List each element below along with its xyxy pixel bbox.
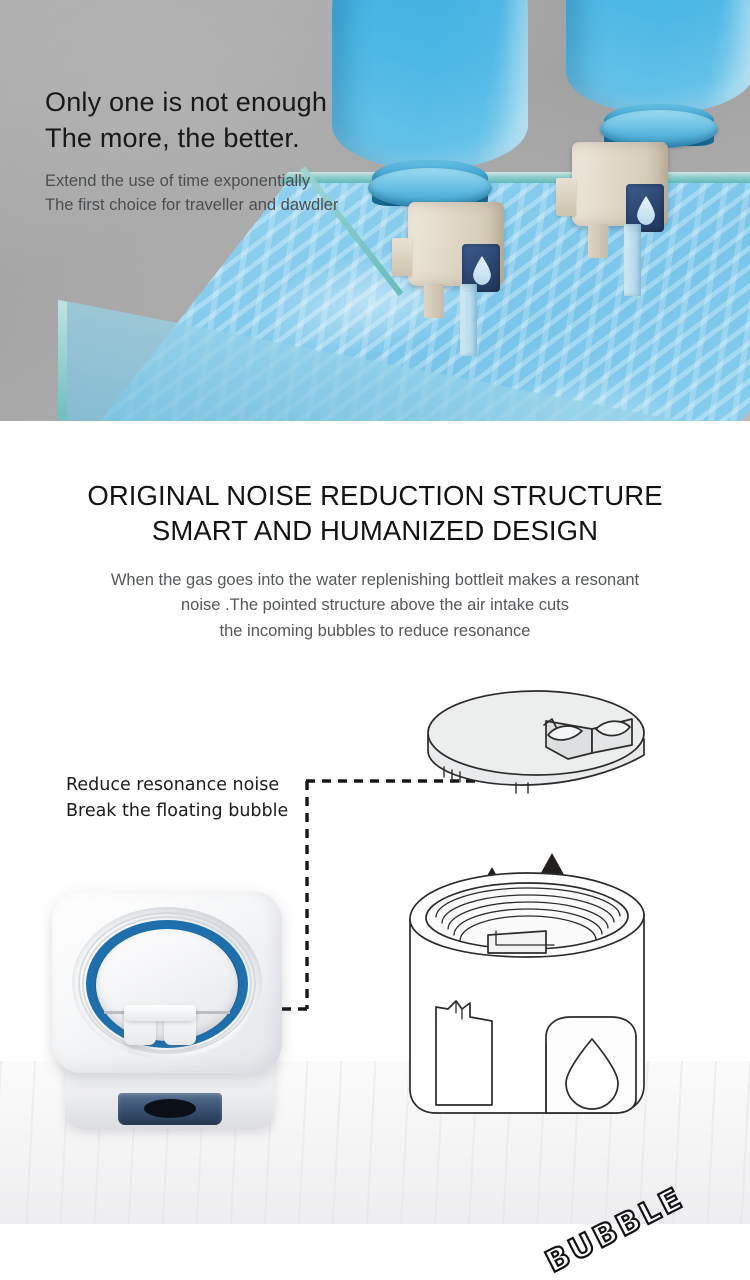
inverted-water-bottle-right	[566, 0, 750, 114]
water-drop-icon-left	[473, 256, 491, 285]
hero-subtext-line-1: Extend the use of time exponentially	[45, 170, 338, 194]
cap-side-clip-left	[392, 238, 412, 276]
cap-water-tube-right	[624, 224, 641, 296]
product-photo	[46, 887, 296, 1145]
callout-text: Reduce resonance noise Break the floatin…	[66, 773, 288, 825]
section-body-line-3: the incoming bubbles to reduce resonance	[0, 619, 750, 644]
tank-glass-rim	[279, 172, 750, 183]
hero-section: Only one is not enough The more, the bet…	[0, 0, 750, 421]
section-heading-line-2: SMART AND HUMANIZED DESIGN	[0, 513, 750, 548]
hero-headline-line-2: The more, the better.	[45, 121, 338, 157]
cap-side-clip-right	[556, 178, 576, 216]
cap-water-tube-left	[460, 284, 477, 356]
hero-subtext-line-2: The first choice for traveller and dawdl…	[45, 194, 338, 218]
callout-line-2: Break the floating bubble	[66, 799, 288, 825]
lower-section: ORIGINAL NOISE REDUCTION STRUCTURE SMART…	[0, 421, 750, 1224]
hero-text-block: Only one is not enough The more, the bet…	[45, 85, 338, 218]
hero-subtext: Extend the use of time exponentially The…	[45, 170, 338, 218]
hero-headline-line-1: Only one is not enough	[45, 85, 338, 121]
water-drop-icon-right	[637, 196, 655, 225]
section-heading-line-1: ORIGINAL NOISE REDUCTION STRUCTURE	[0, 478, 750, 513]
section-body-text: When the gas goes into the water repleni…	[0, 568, 750, 643]
callout-line-1: Reduce resonance noise	[66, 773, 288, 799]
tank-glass-left-edge	[58, 300, 67, 420]
section-heading: ORIGINAL NOISE REDUCTION STRUCTURE SMART…	[0, 478, 750, 548]
product-base-opening	[144, 1099, 196, 1118]
section-body-line-2: noise .The pointed structure above the a…	[0, 593, 750, 618]
cap-air-stub-left	[424, 284, 444, 318]
bottle-arc-embossing-right	[566, 0, 750, 114]
inverted-water-bottle-left	[332, 0, 528, 170]
cap-air-stub-right	[588, 224, 608, 258]
exploded-line-diagram	[396, 673, 726, 1143]
product-prong-bridge	[124, 1005, 196, 1021]
hero-headline: Only one is not enough The more, the bet…	[45, 85, 338, 156]
section-body-line-1: When the gas goes into the water repleni…	[0, 568, 750, 593]
dispenser-body	[410, 873, 644, 1113]
bottle-arc-embossing	[332, 0, 528, 170]
noise-reduction-disc	[428, 691, 644, 793]
